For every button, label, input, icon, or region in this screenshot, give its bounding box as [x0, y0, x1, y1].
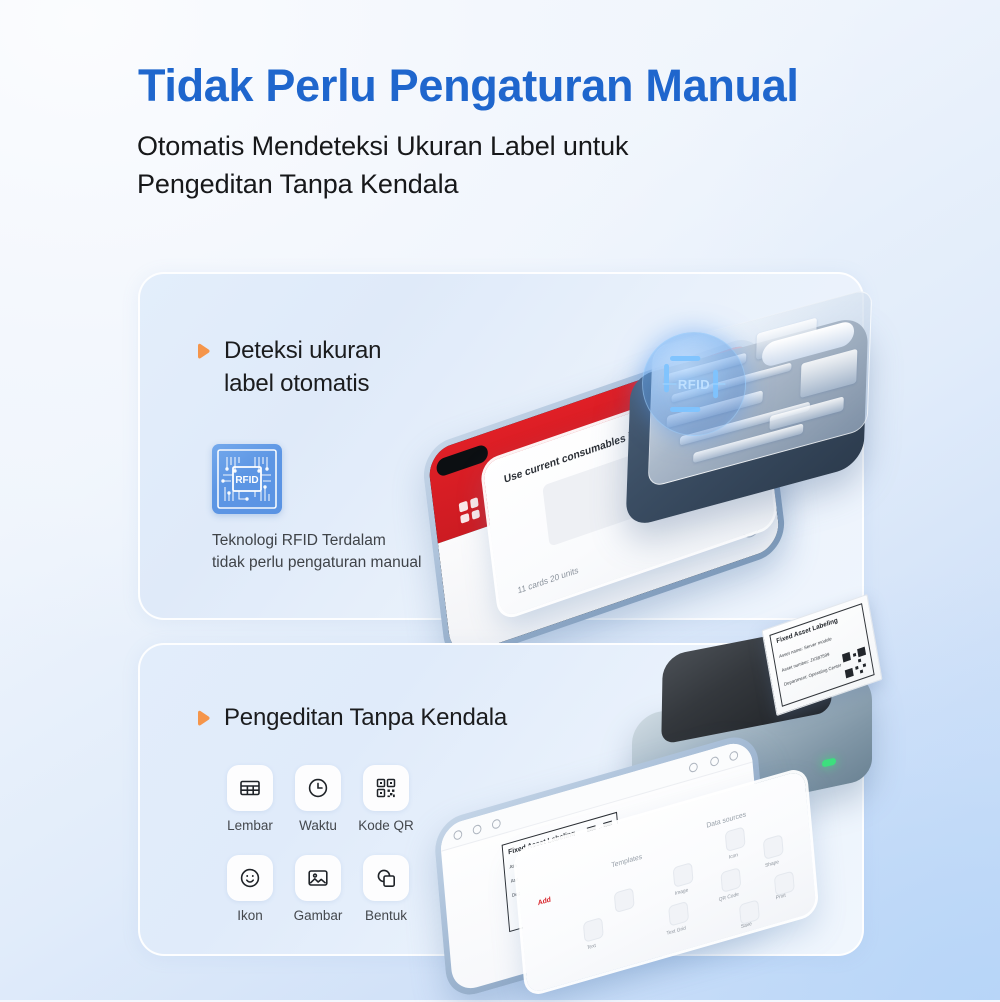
rfid-chip-icon: RFID [212, 444, 282, 514]
caption-icon: Icon [729, 852, 739, 861]
more-icon[interactable] [729, 750, 738, 762]
time-icon[interactable] [614, 887, 635, 913]
tool-label: Gambar [294, 908, 343, 923]
caption-shape: Shape [765, 859, 779, 869]
shapes-layers-icon[interactable] [363, 855, 409, 901]
subtitle-line-2: Pengeditan Tanpa Kendala [137, 165, 628, 203]
subtitle-line-1: Otomatis Mendeteksi Ukuran Label untuk [137, 127, 628, 165]
qr-code-icon[interactable] [363, 765, 409, 811]
tool-gambar[interactable]: Gambar [284, 855, 352, 923]
card-1-title-line-1: Deteksi ukuran [224, 334, 381, 367]
tool-label: Bentuk [365, 908, 407, 923]
redo-icon[interactable] [492, 818, 501, 830]
text-tool-icon[interactable] [583, 917, 604, 943]
table-sheet-icon[interactable] [668, 901, 689, 927]
stage: Tidak Perlu Pengaturan Manual Otomatis M… [0, 0, 1000, 1000]
tool-kode-qr[interactable]: Kode QR [352, 765, 420, 833]
undo-icon[interactable] [472, 824, 481, 836]
rfid-caption-line-1: Teknologi RFID Terdalam [212, 530, 421, 552]
caption-text: Text [587, 943, 596, 952]
phone-notch [436, 443, 489, 478]
svg-text:RFID: RFID [235, 475, 258, 486]
dialog-meta: 11 cards 20 units [517, 565, 579, 596]
tool-label: Waktu [299, 818, 337, 833]
smiley-face-icon[interactable] [227, 855, 273, 901]
zoom-icon[interactable] [689, 762, 698, 774]
qr-code-icon[interactable] [720, 867, 741, 893]
editing-tools-grid: Lembar Waktu [216, 765, 420, 923]
transparent-label-printer-icon: RFID [616, 296, 884, 521]
rfid-glow-orb: RFID [642, 332, 746, 436]
card-2-heading: Pengeditan Tanpa Kendala [196, 701, 507, 734]
caption-qr-code: QR Code [719, 891, 740, 903]
tool-ikon[interactable]: Ikon [216, 855, 284, 923]
tool-lembar[interactable]: Lembar [216, 765, 284, 833]
rfid-caption: Teknologi RFID Terdalam tidak perlu peng… [212, 530, 421, 574]
table-sheet-icon[interactable] [227, 765, 273, 811]
caption-text-grid: Text Grid [666, 925, 686, 937]
caption-save: Save [741, 921, 752, 930]
tool-label: Ikon [237, 908, 263, 923]
card-2-title-line-1: Pengeditan Tanpa Kendala [224, 701, 507, 734]
tool-label: Kode QR [358, 818, 414, 833]
smiley-face-icon[interactable] [725, 826, 746, 852]
page-headline: Tidak Perlu Pengaturan Manual [138, 60, 799, 112]
rfid-orb-label: RFID [643, 377, 745, 392]
orange-triangle-marker-icon [196, 710, 211, 727]
orange-triangle-marker-icon [196, 343, 211, 360]
card-2-title: Pengeditan Tanpa Kendala [224, 701, 507, 734]
caption-image: Image [675, 887, 689, 897]
card-1-title: Deteksi ukuran label otomatis [224, 334, 381, 400]
tool-label: Lembar [227, 818, 273, 833]
card-1-heading: Deteksi ukuran label otomatis [196, 334, 381, 400]
tool-bentuk[interactable]: Bentuk [352, 855, 420, 923]
rfid-caption-line-2: tidak perlu pengaturan manual [212, 552, 421, 574]
tool-waktu[interactable]: Waktu [284, 765, 352, 833]
page-subtitle: Otomatis Mendeteksi Ukuran Label untuk P… [137, 127, 628, 203]
image-picture-icon[interactable] [673, 862, 694, 888]
add-button[interactable]: Add [538, 896, 552, 907]
clock-icon[interactable] [295, 765, 341, 811]
card-1-title-line-2: label otomatis [224, 367, 381, 400]
image-picture-icon[interactable] [295, 855, 341, 901]
rfid-badge-block: RFID Teknologi RFID Terdalam tidak perlu… [212, 444, 421, 574]
section-templates: Templates [611, 854, 642, 870]
phone-grid-icon [459, 497, 480, 524]
caption-print: Print [776, 892, 786, 901]
qr-code-icon [842, 647, 869, 679]
close-icon[interactable] [453, 829, 462, 841]
shapes-layers-icon[interactable] [763, 834, 784, 860]
grid-icon[interactable] [710, 756, 719, 768]
